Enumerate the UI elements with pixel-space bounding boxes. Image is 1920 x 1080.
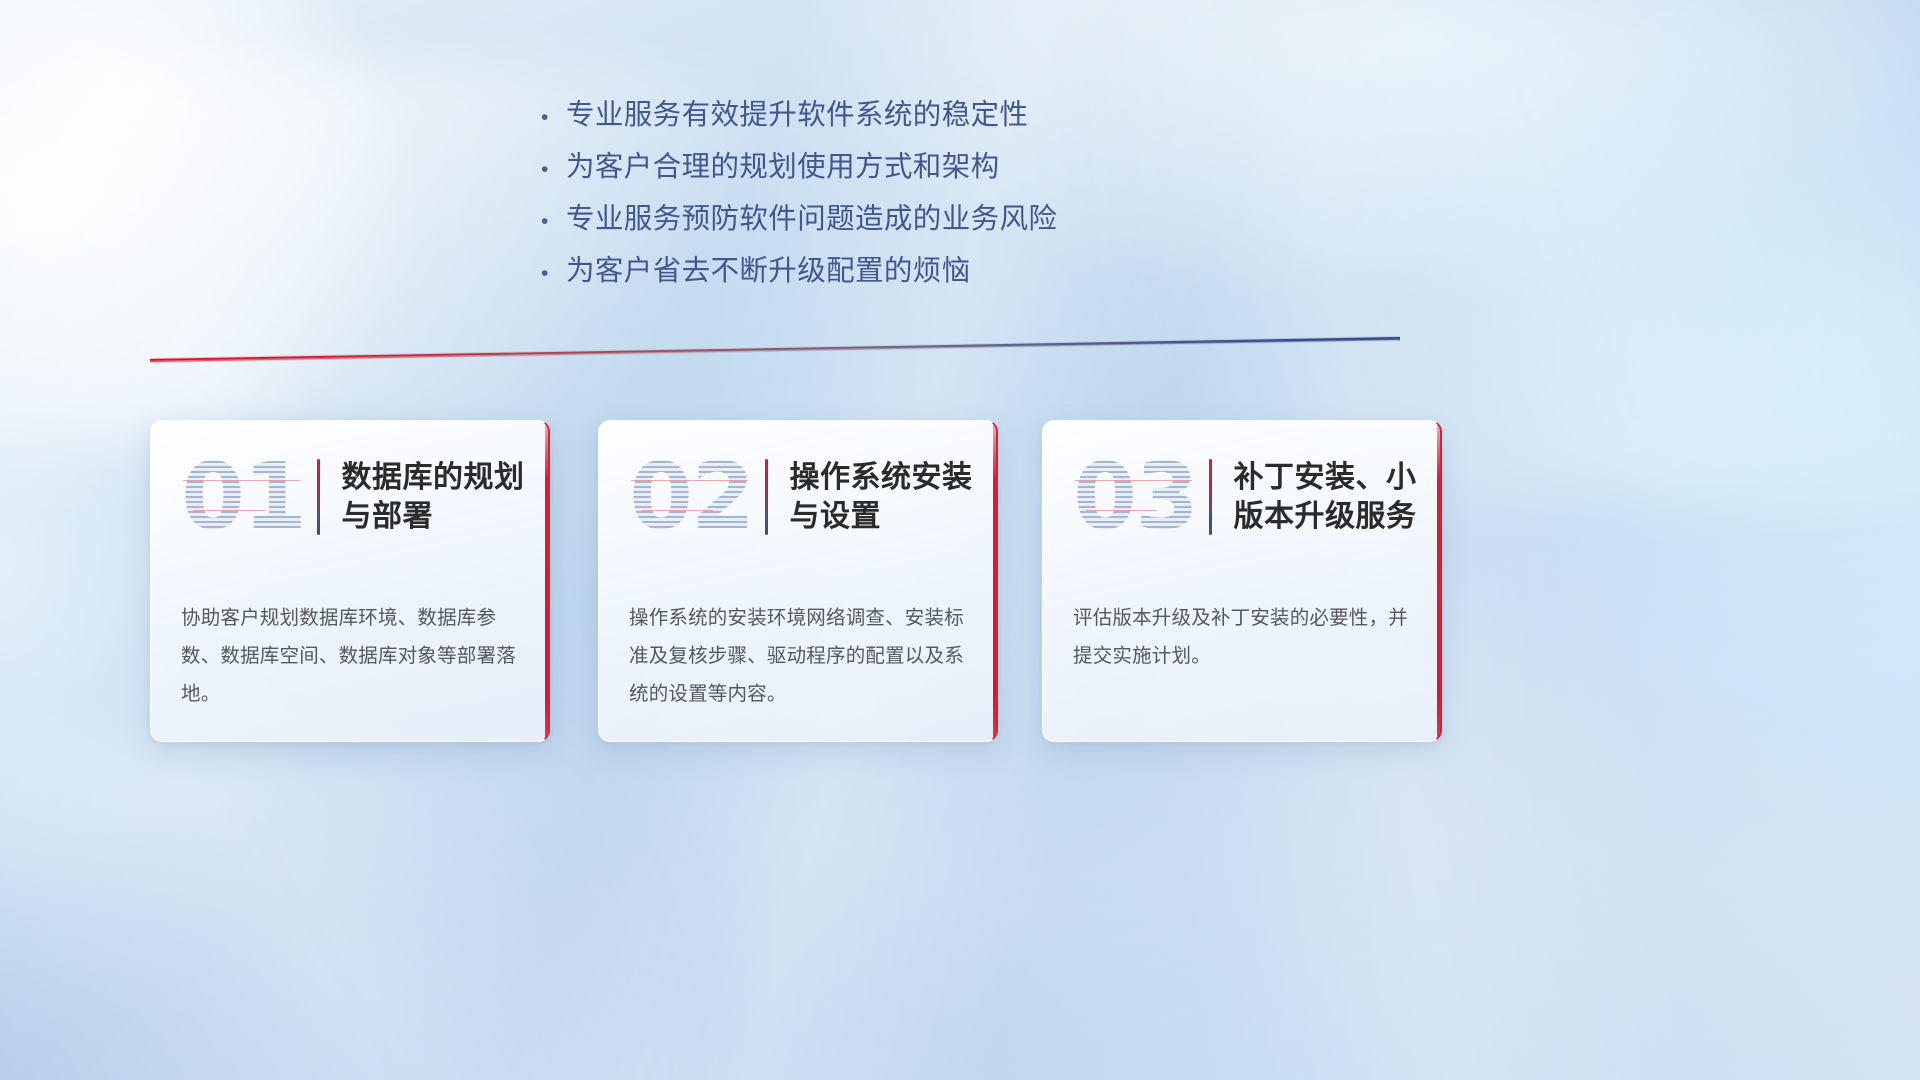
card-number-text: 02 — [629, 451, 753, 543]
card-description: 操作系统的安装环境网络调查、安装标准及复核步骤、驱动程序的配置以及系统的设置等内… — [599, 573, 996, 713]
benefits-bullet-list: • 专业服务有效提升软件系统的稳定性 • 为客户合理的规划使用方式和架构 • 专… — [538, 92, 1258, 300]
number-tint-line — [183, 480, 300, 481]
service-card-02[interactable]: 02 操作系统安装与设置 操作系统的安装环境网络调查、安装标准及复核步骤、驱动程… — [598, 420, 998, 742]
number-tint-line — [194, 510, 265, 511]
card-number-text: 03 — [1073, 451, 1197, 543]
card-header: 02 操作系统安装与设置 — [599, 421, 996, 573]
divider-graphic — [150, 336, 1400, 368]
bullet-text: 专业服务有效提升软件系统的稳定性 — [566, 92, 1028, 133]
section-divider — [150, 336, 1400, 368]
card-header: 03 补丁安装、小版本升级服务 — [1043, 421, 1440, 573]
card-title: 数据库的规划与部署 — [342, 458, 542, 536]
list-item: • 专业服务预防软件问题造成的业务风险 — [538, 196, 1258, 248]
card-number-badge: 03 — [1067, 443, 1203, 551]
card-accent-bar — [317, 459, 320, 535]
bullet-dot-icon: • — [538, 211, 566, 232]
bullet-dot-icon: • — [538, 263, 566, 284]
bullet-text: 为客户省去不断升级配置的烦恼 — [566, 248, 971, 289]
list-item: • 专业服务有效提升软件系统的稳定性 — [538, 92, 1258, 144]
service-card-01[interactable]: 01 数据库的规划与部署 协助客户规划数据库环境、数据库参数、数据库空间、数据库… — [150, 420, 550, 742]
card-accent-bar — [1209, 459, 1212, 535]
card-number-badge: 01 — [175, 443, 311, 551]
card-title: 操作系统安装与设置 — [790, 458, 990, 536]
card-number-text: 01 — [181, 451, 305, 543]
list-item: • 为客户省去不断升级配置的烦恼 — [538, 248, 1258, 300]
card-title: 补丁安装、小版本升级服务 — [1234, 458, 1434, 536]
card-description: 协助客户规划数据库环境、数据库参数、数据库空间、数据库对象等部署落地。 — [151, 573, 548, 713]
number-tint-line — [1086, 510, 1157, 511]
number-tint-line — [642, 510, 713, 511]
background-streak-bottom — [0, 734, 691, 1080]
number-tint-line — [631, 480, 748, 481]
bullet-text: 专业服务预防软件问题造成的业务风险 — [566, 196, 1057, 237]
number-tint-line — [1075, 480, 1192, 481]
list-item: • 为客户合理的规划使用方式和架构 — [538, 144, 1258, 196]
service-card-03[interactable]: 03 补丁安装、小版本升级服务 评估版本升级及补丁安装的必要性，并提交实施计划。 — [1042, 420, 1442, 742]
card-header: 01 数据库的规划与部署 — [151, 421, 548, 573]
card-accent-bar — [765, 459, 768, 535]
bullet-text: 为客户合理的规划使用方式和架构 — [566, 144, 1000, 185]
service-card-group: 01 数据库的规划与部署 协助客户规划数据库环境、数据库参数、数据库空间、数据库… — [0, 420, 1920, 750]
bullet-dot-icon: • — [538, 107, 566, 128]
card-number-badge: 02 — [623, 443, 759, 551]
card-description: 评估版本升级及补丁安装的必要性，并提交实施计划。 — [1043, 573, 1440, 675]
bullet-dot-icon: • — [538, 159, 566, 180]
